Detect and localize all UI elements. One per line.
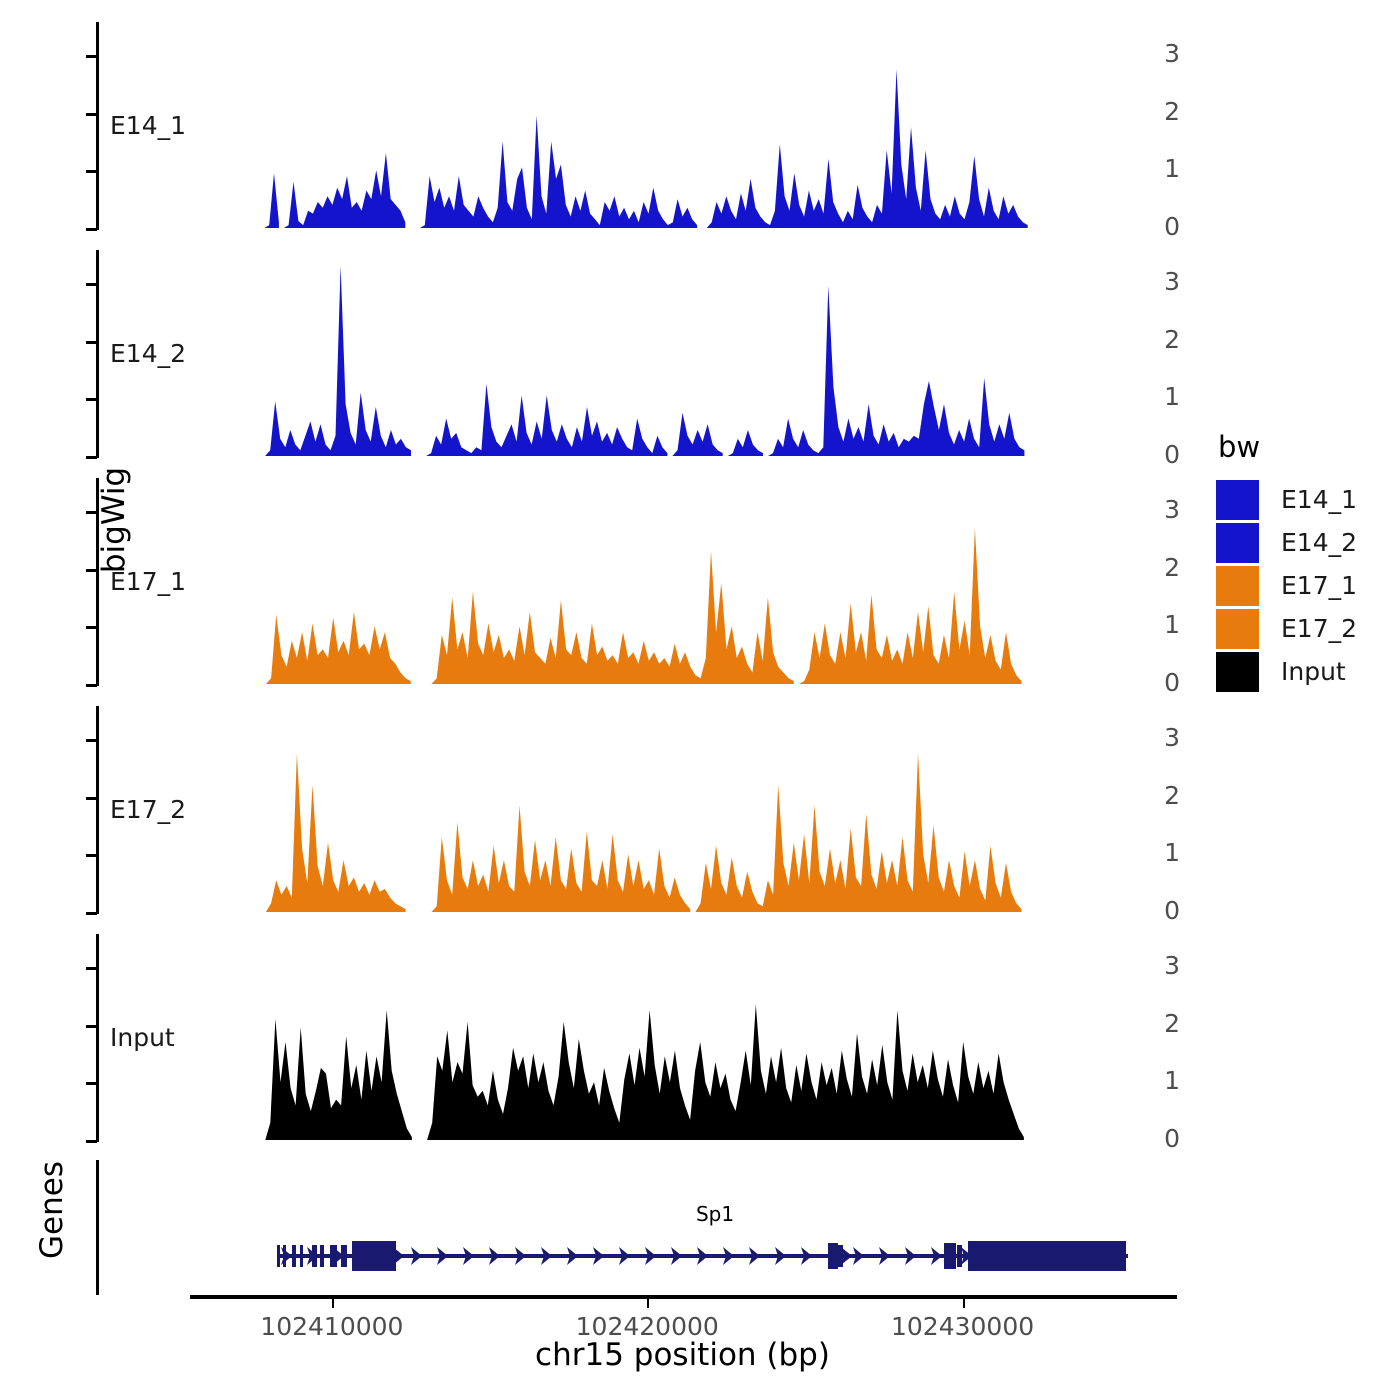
signal-polygon [266,612,411,684]
signal-track-e14_1 [0,22,1180,230]
legend: bw E14_1E14_2E17_1E17_2Input [1216,430,1357,693]
signal-track-e14_2 [0,250,1180,458]
x-tick [647,1299,649,1308]
signal-polygon [420,116,697,229]
legend-swatch-e14_2 [1216,523,1259,563]
signal-polygon [799,528,1022,684]
signal-polygon [266,753,406,912]
legend-item-e17_1[interactable]: E17_1 [1216,564,1357,607]
gene-exon [300,1245,303,1267]
gene-exon [292,1245,296,1267]
signal-polygon [265,266,411,457]
signal-track-e17_1 [0,478,1180,686]
x-tick [332,1299,334,1308]
legend-swatch-e17_2 [1216,609,1259,649]
genome-browser-figure: bigWig Genes chr15 position (bp) 0123E14… [0,0,1400,1400]
gene-exon [277,1245,280,1267]
legend-swatch-e17_1 [1216,566,1259,606]
signal-track-input [0,934,1180,1142]
x-tick [963,1299,965,1308]
legend-label: E14_2 [1281,528,1357,557]
legend-swatch-input [1216,652,1259,692]
x-axis-title: chr15 position (bp) [190,1337,1175,1373]
legend-label: E17_2 [1281,614,1357,643]
legend-swatch-e14_1 [1216,480,1259,520]
signal-polygon [426,384,667,456]
signal-track-e17_2 [0,706,1180,914]
legend-label: E14_1 [1281,485,1357,514]
gene-exon [352,1241,396,1271]
x-tick-label: 102420000 [576,1312,719,1341]
signal-polygon [707,69,1028,228]
gene-exon [944,1243,956,1269]
gene-model-svg[interactable] [0,1160,1180,1295]
gene-exon [828,1243,838,1269]
gene-exon [320,1245,324,1267]
signal-polygon [265,1010,412,1140]
gene-track-panel: Sp1 [0,1160,1180,1295]
track-panel-e14_2: 0123E14_2 [0,250,1180,458]
track-panel-e17_1: 0123E17_1 [0,478,1180,686]
legend-label: Input [1281,657,1346,686]
legend-item-e14_2[interactable]: E14_2 [1216,521,1357,564]
signal-polygon [264,173,279,228]
legend-title: bw [1218,430,1357,464]
signal-polygon [432,551,794,684]
x-axis-line [190,1295,1177,1299]
signal-polygon [427,1004,1024,1140]
legend-items: E14_1E14_2E17_1E17_2Input [1216,478,1357,693]
legend-item-e17_2[interactable]: E17_2 [1216,607,1357,650]
legend-item-input[interactable]: Input [1216,650,1357,693]
signal-polygon [728,430,763,456]
track-panel-input: 0123Input [0,934,1180,1142]
signal-polygon [768,286,1024,456]
signal-polygon [284,153,406,228]
gene-exon [957,1245,962,1267]
signal-polygon [672,413,722,456]
track-panel-e17_2: 0123E17_2 [0,706,1180,914]
track-panel-e14_1: 0123E14_1 [0,22,1180,230]
legend-label: E17_1 [1281,571,1357,600]
signal-polygon [695,753,1021,912]
legend-item-e14_1[interactable]: E14_1 [1216,478,1357,521]
signal-polygon [432,805,691,912]
x-tick-label: 102410000 [260,1312,403,1341]
x-tick-label: 102430000 [891,1312,1034,1341]
gene-exon [968,1241,1126,1271]
